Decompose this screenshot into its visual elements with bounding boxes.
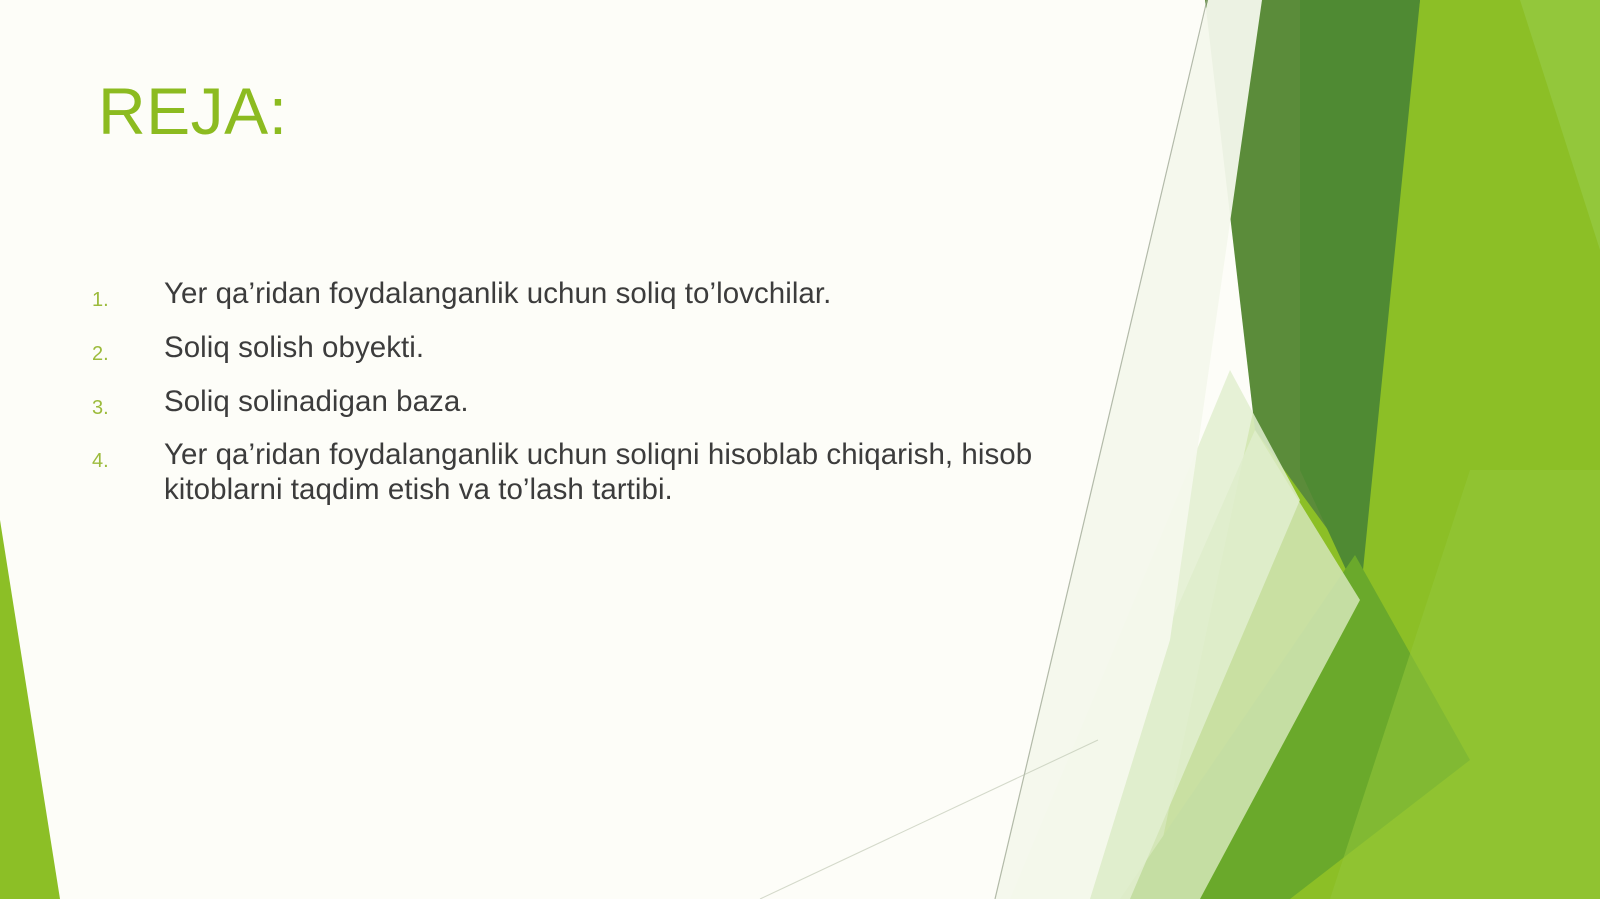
facet-bright-sliver	[1420, 0, 1600, 250]
facet-mid-green-band	[1120, 555, 1470, 899]
agenda-list: 1. Yer qa’ridan foydalanganlik uchun sol…	[92, 277, 1102, 508]
list-item: 3. Soliq solinadigan baza.	[92, 385, 1102, 420]
facet-right-base	[1150, 0, 1600, 899]
list-item: 1. Yer qa’ridan foydalanganlik uchun sol…	[92, 277, 1102, 312]
facet-light-right-panel	[1330, 470, 1600, 899]
list-item-number: 2.	[92, 331, 164, 364]
list-item: 2. Soliq solish obyekti.	[92, 331, 1102, 366]
list-item-text: Soliq solish obyekti.	[164, 331, 1102, 366]
facet-dark-olive-top	[1205, 0, 1420, 560]
list-item-text: Soliq solinadigan baza.	[164, 385, 1102, 420]
list-item-number: 1.	[92, 277, 164, 310]
list-item: 4. Yer qa’ridan foydalanganlik uchun sol…	[92, 438, 1102, 508]
slide-canvas: REJA: 1. Yer qa’ridan foydalanganlik uch…	[0, 0, 1600, 899]
list-item-text: Yer qa’ridan foydalanganlik uchun soliqn…	[164, 438, 1102, 508]
list-item-number: 3.	[92, 385, 164, 418]
page-title: REJA:	[98, 78, 288, 144]
facet-left-wedge	[0, 520, 60, 899]
list-item-number: 4.	[92, 438, 164, 471]
list-item-text: Yer qa’ridan foydalanganlik uchun soliq …	[164, 277, 1102, 312]
hairline-diagonal-lower	[760, 740, 1098, 899]
facet-deep-green-wedge	[1300, 0, 1420, 600]
